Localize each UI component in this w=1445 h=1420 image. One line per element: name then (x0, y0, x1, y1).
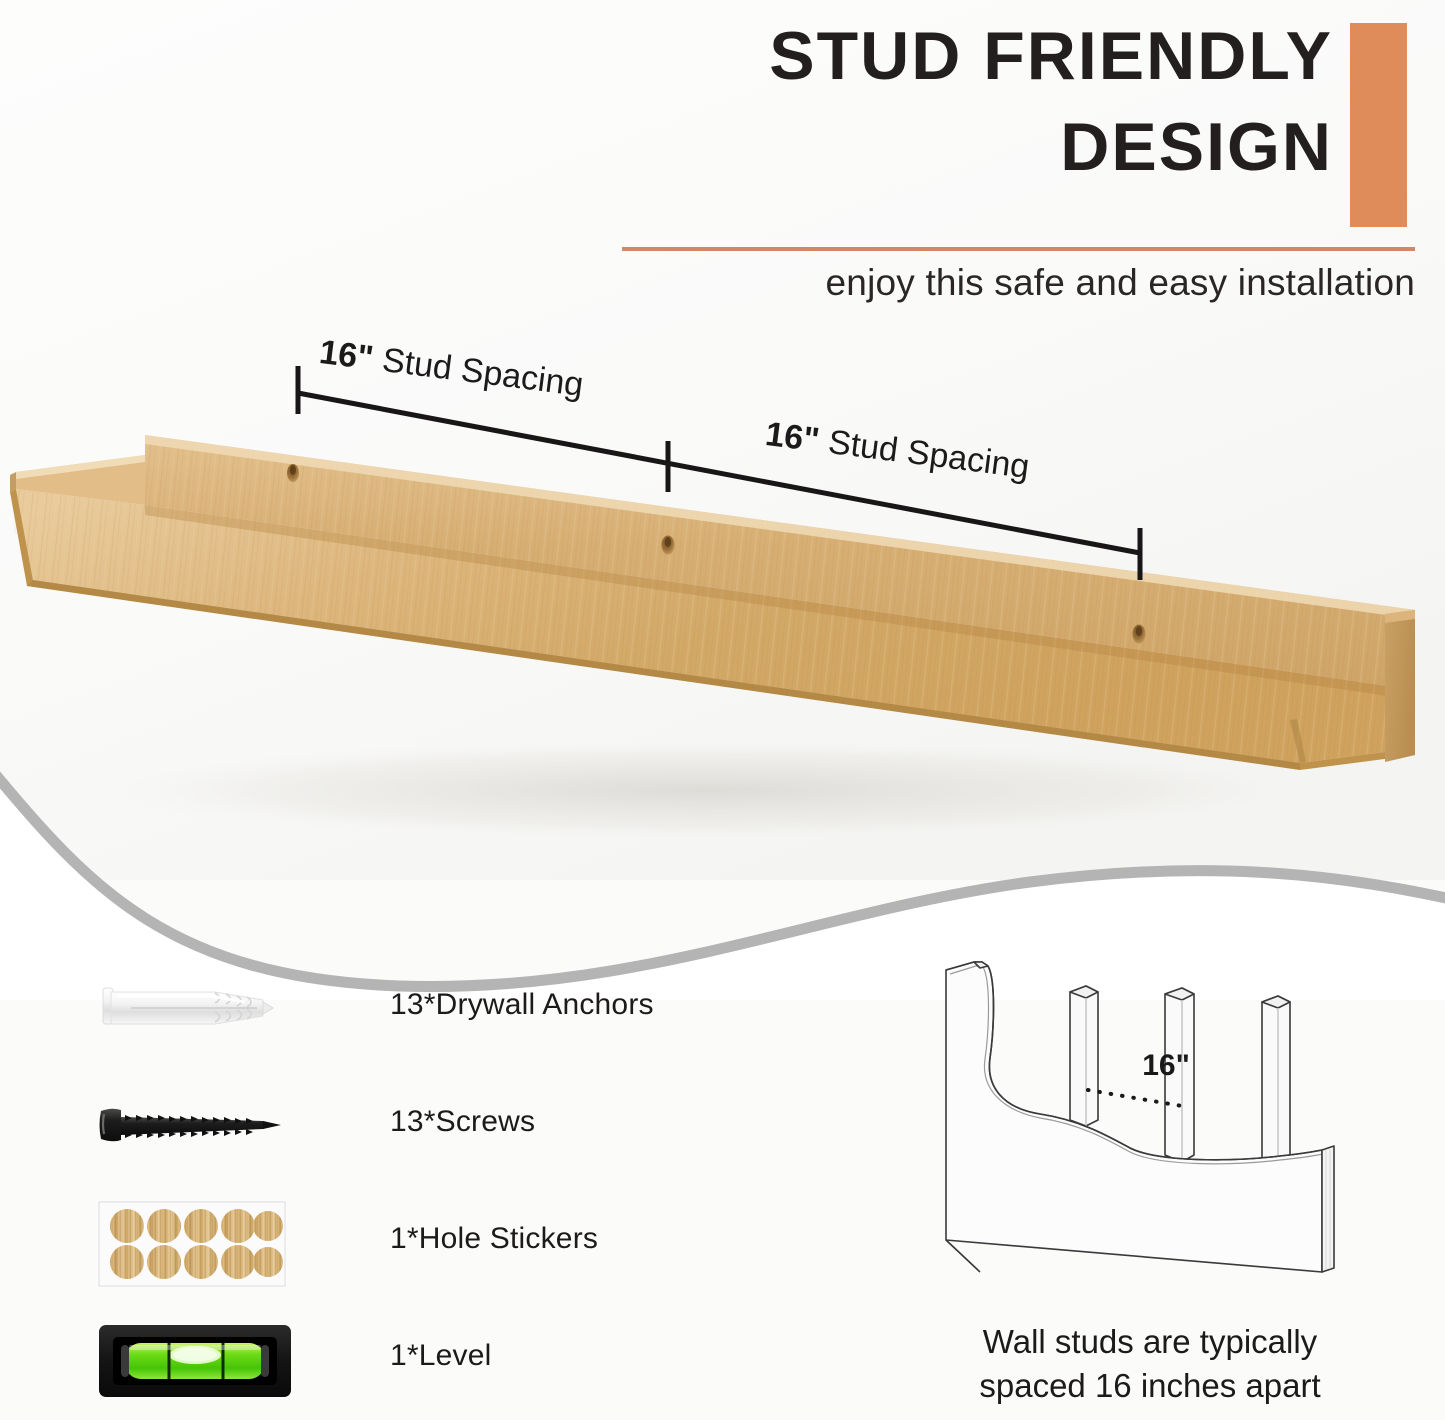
accent-bar (1350, 23, 1407, 227)
part-row-drywall-anchors: 13*Drywall Anchors (95, 960, 735, 1077)
dimension-measure-right: 16" (763, 415, 821, 459)
screw-icon (95, 1077, 300, 1177)
page-title: STUD FRIENDLY DESIGN (769, 22, 1333, 183)
part-label-drywall-anchors: 13*Drywall Anchors (390, 988, 654, 1022)
bubble-level-icon (95, 1311, 300, 1411)
title-line-2: DESIGN (769, 113, 1333, 182)
part-row-screws: 13*Screws (95, 1077, 735, 1194)
parts-list: 13*Drywall Anchors (95, 960, 735, 1420)
part-row-hole-stickers: 1*Hole Stickers (95, 1194, 735, 1311)
infographic-canvas: 16" Stud Spacing 16" Stud Spacing STUD F… (0, 0, 1445, 1420)
header-subtitle: enjoy this safe and easy installation (826, 262, 1415, 304)
wall-caption-line-2: spaced 16 inches apart (925, 1364, 1375, 1408)
stud-3 (1262, 996, 1290, 1168)
wall-diagram-measure: 16" (1142, 1049, 1190, 1082)
drywall-anchor-icon (95, 960, 300, 1060)
wall-caption-line-1: Wall studs are typically (925, 1320, 1375, 1364)
part-row-level: 1*Level (95, 1311, 735, 1420)
wall-diagram-caption: Wall studs are typically spaced 16 inche… (925, 1320, 1375, 1408)
wall-stud-diagram: 16" (930, 950, 1370, 1310)
hole-sticker-sheet-icon (95, 1194, 300, 1294)
part-label-level: 1*Level (390, 1339, 491, 1373)
wall-diagram-measure-text: 16" (1142, 1049, 1190, 1082)
header-divider-rule (622, 247, 1415, 251)
part-label-hole-stickers: 1*Hole Stickers (390, 1222, 598, 1256)
part-label-screws: 13*Screws (390, 1105, 535, 1139)
title-line-1: STUD FRIENDLY (769, 22, 1333, 91)
dimension-measure-left: 16" (317, 333, 375, 377)
stud-1 (1070, 986, 1098, 1126)
wall-stud-illustration: 16" (930, 950, 1370, 1310)
